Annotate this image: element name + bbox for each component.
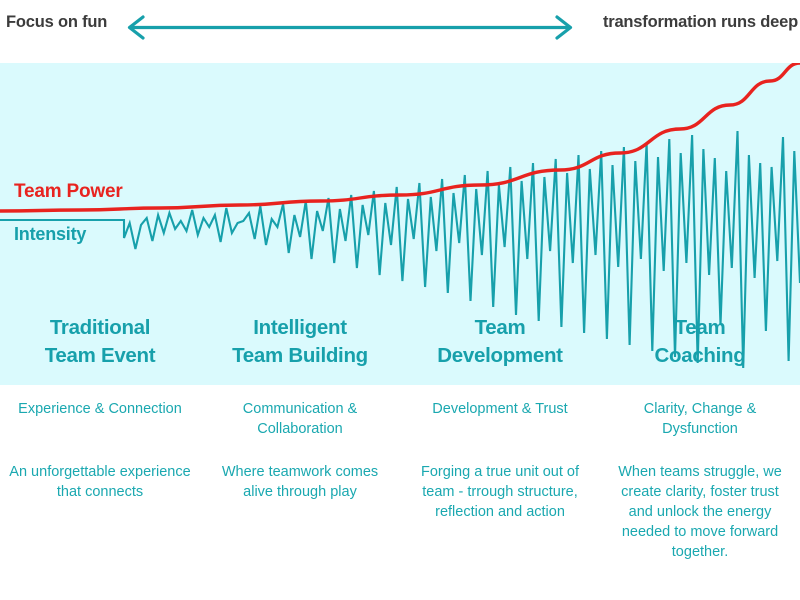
description-text: When teams struggle, we create clarity, … — [608, 462, 792, 562]
heading-line-1: Traditional — [8, 314, 192, 342]
subtitle-text: Clarity, Change & Dysfunction — [608, 400, 792, 439]
heading-line-1: Team — [408, 314, 592, 342]
column-heading-team-coaching: Team Coaching — [600, 314, 800, 370]
column-description-intelligent-team-building: Where teamwork comes alive through play — [200, 462, 400, 562]
subtitle-text: Communication & Collaboration — [208, 400, 392, 439]
axis-label-right: transformation runs deep — [603, 13, 798, 32]
description-text: Where teamwork comes alive through play — [208, 462, 392, 502]
column-subtitle-team-coaching: Clarity, Change & Dysfunction — [600, 400, 800, 439]
column-descriptions-row: An unforgettable experience that connect… — [0, 462, 800, 562]
description-text: An unforgettable experience that connect… — [8, 462, 192, 502]
heading-line-2: Team Event — [8, 342, 192, 370]
column-heading-traditional-team-event: Traditional Team Event — [0, 314, 200, 370]
subtitle-text: Experience & Connection — [8, 400, 192, 420]
axis-label-left: Focus on fun — [6, 13, 107, 32]
heading-line-1: Team — [608, 314, 792, 342]
series-label-team-power: Team Power — [14, 181, 123, 203]
column-subtitles-row: Experience & Connection Communication & … — [0, 400, 800, 439]
series-label-intensity: Intensity — [14, 224, 86, 245]
column-heading-intelligent-team-building: Intelligent Team Building — [200, 314, 400, 370]
double-headed-arrow-icon — [124, 8, 576, 48]
column-subtitle-team-development: Development & Trust — [400, 400, 600, 439]
heading-line-2: Coaching — [608, 342, 792, 370]
heading-line-1: Intelligent — [208, 314, 392, 342]
column-subtitle-intelligent-team-building: Communication & Collaboration — [200, 400, 400, 439]
column-headings-row: Traditional Team Event Intelligent Team … — [0, 314, 800, 370]
description-text: Forging a true unit out of team - trroug… — [408, 462, 592, 522]
heading-line-2: Development — [408, 342, 592, 370]
column-description-team-development: Forging a true unit out of team - trroug… — [400, 462, 600, 562]
heading-line-2: Team Building — [208, 342, 392, 370]
column-subtitle-traditional-team-event: Experience & Connection — [0, 400, 200, 439]
column-description-traditional-team-event: An unforgettable experience that connect… — [0, 462, 200, 562]
subtitle-text: Development & Trust — [408, 400, 592, 420]
column-heading-team-development: Team Development — [400, 314, 600, 370]
column-description-team-coaching: When teams struggle, we create clarity, … — [600, 462, 800, 562]
axis-header: Focus on fun transformation runs deep — [0, 0, 800, 56]
